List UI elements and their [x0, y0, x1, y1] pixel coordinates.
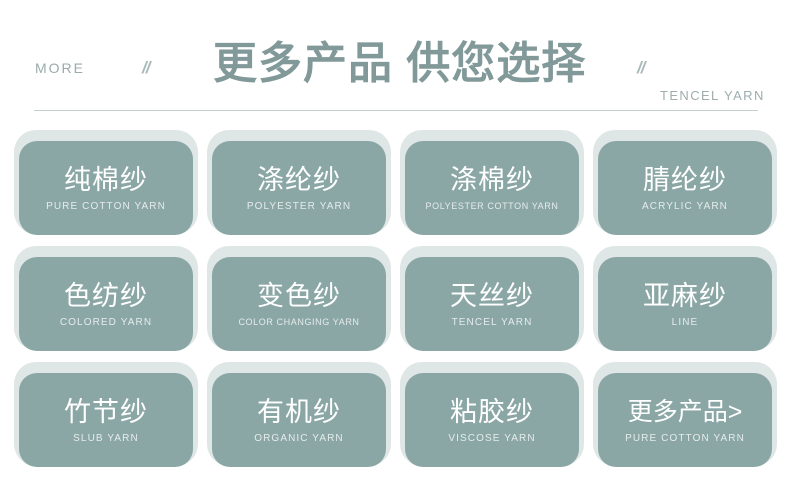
category-card-frame: 更多产品>PURE COTTON YARN	[593, 362, 777, 466]
category-card[interactable]: 更多产品>PURE COTTON YARN	[598, 373, 772, 467]
category-card-slot: 色纺纱COLORED YARN	[14, 240, 207, 356]
category-card-title: 粘胶纱	[450, 396, 534, 428]
category-card-slot: 更多产品>PURE COTTON YARN	[593, 356, 786, 472]
category-card-slot: 纯棉纱PURE COTTON YARN	[14, 124, 207, 240]
page-title: 更多产品 供您选择	[213, 38, 586, 90]
category-card-title: 纯棉纱	[64, 164, 148, 196]
category-card-title: 涤棉纱	[450, 164, 534, 196]
header-slash-right-decoration: //	[637, 58, 644, 78]
category-card-frame: 天丝纱TENCEL YARN	[400, 246, 584, 350]
category-card[interactable]: 涤纶纱POLYESTER YARN	[212, 141, 386, 235]
category-card-slot: 亚麻纱LINE	[593, 240, 786, 356]
category-card[interactable]: 纯棉纱PURE COTTON YARN	[19, 141, 193, 235]
category-card-title: 腈纶纱	[643, 164, 727, 196]
category-card-subtitle: PURE COTTON YARN	[46, 200, 166, 213]
category-card-title: 有机纱	[257, 396, 341, 428]
category-card-frame: 纯棉纱PURE COTTON YARN	[14, 130, 198, 234]
category-card-subtitle: ORGANIC YARN	[254, 432, 344, 445]
category-card-frame: 有机纱ORGANIC YARN	[207, 362, 391, 466]
category-card-frame: 竹节纱SLUB YARN	[14, 362, 198, 466]
category-card[interactable]: 天丝纱TENCEL YARN	[405, 257, 579, 351]
category-card[interactable]: 腈纶纱ACRYLIC YARN	[598, 141, 772, 235]
category-card-title: 天丝纱	[450, 280, 534, 312]
category-card[interactable]: 亚麻纱LINE	[598, 257, 772, 351]
category-card-slot: 涤纶纱POLYESTER YARN	[207, 124, 400, 240]
category-card-subtitle: ACRYLIC YARN	[642, 200, 728, 213]
category-card-subtitle: PURE COTTON YARN	[625, 432, 745, 445]
category-card[interactable]: 粘胶纱VISCOSE YARN	[405, 373, 579, 467]
category-card-frame: 涤纶纱POLYESTER YARN	[207, 130, 391, 234]
category-card-subtitle: COLORED YARN	[60, 316, 152, 329]
category-card-subtitle: POLYESTER COTTON YARN	[426, 200, 559, 213]
category-card[interactable]: 变色纱COLOR CHANGING YARN	[212, 257, 386, 351]
category-card-subtitle: TENCEL YARN	[452, 316, 533, 329]
category-card-title: 更多产品>	[628, 396, 743, 428]
header-divider	[34, 110, 758, 111]
category-card-slot: 变色纱COLOR CHANGING YARN	[207, 240, 400, 356]
category-card-title: 色纺纱	[64, 280, 148, 312]
category-card-slot: 腈纶纱ACRYLIC YARN	[593, 124, 786, 240]
category-card-frame: 粘胶纱VISCOSE YARN	[400, 362, 584, 466]
header-subtitle: TENCEL YARN	[660, 88, 765, 103]
category-card-frame: 亚麻纱LINE	[593, 246, 777, 350]
product-category-page: MORE // 更多产品 供您选择 // TENCEL YARN 纯棉纱PURE…	[0, 0, 790, 493]
category-card-slot: 有机纱ORGANIC YARN	[207, 356, 400, 472]
category-card-subtitle: VISCOSE YARN	[448, 432, 535, 445]
category-card[interactable]: 有机纱ORGANIC YARN	[212, 373, 386, 467]
category-card-slot: 粘胶纱VISCOSE YARN	[400, 356, 593, 472]
category-card-slot: 天丝纱TENCEL YARN	[400, 240, 593, 356]
category-card-title: 涤纶纱	[257, 164, 341, 196]
category-card-slot: 涤棉纱POLYESTER COTTON YARN	[400, 124, 593, 240]
category-card-subtitle: LINE	[672, 316, 699, 329]
category-card-subtitle: POLYESTER YARN	[247, 200, 351, 213]
category-card-frame: 色纺纱COLORED YARN	[14, 246, 198, 350]
category-card-frame: 腈纶纱ACRYLIC YARN	[593, 130, 777, 234]
category-card-title: 竹节纱	[64, 396, 148, 428]
header-more-label: MORE	[35, 60, 85, 76]
header-slash-left-decoration: //	[142, 58, 149, 78]
page-header: MORE // 更多产品 供您选择 // TENCEL YARN	[0, 0, 790, 120]
category-card[interactable]: 竹节纱SLUB YARN	[19, 373, 193, 467]
category-card[interactable]: 涤棉纱POLYESTER COTTON YARN	[405, 141, 579, 235]
category-card-slot: 竹节纱SLUB YARN	[14, 356, 207, 472]
product-category-grid: 纯棉纱PURE COTTON YARN涤纶纱POLYESTER YARN涤棉纱P…	[0, 124, 790, 472]
category-card-title: 变色纱	[257, 280, 341, 312]
category-card-subtitle: SLUB YARN	[73, 432, 139, 445]
category-card-subtitle: COLOR CHANGING YARN	[238, 316, 359, 329]
category-card-title: 亚麻纱	[643, 280, 727, 312]
category-card-frame: 变色纱COLOR CHANGING YARN	[207, 246, 391, 350]
category-card[interactable]: 色纺纱COLORED YARN	[19, 257, 193, 351]
category-card-frame: 涤棉纱POLYESTER COTTON YARN	[400, 130, 584, 234]
